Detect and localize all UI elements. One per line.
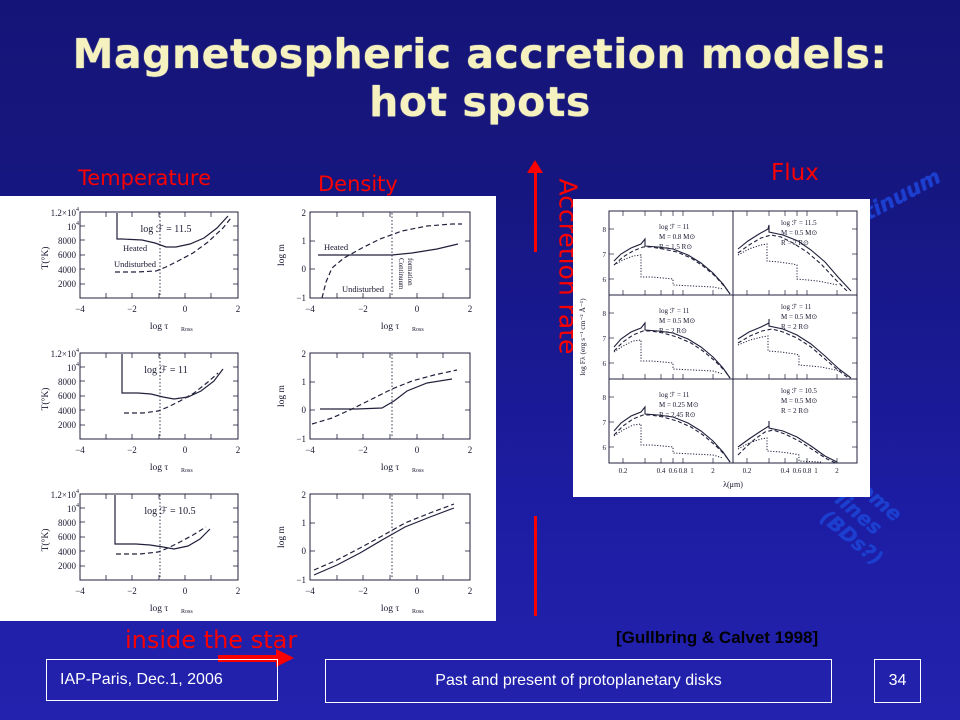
chart-temperature-11: 1.2×10 10 8000 6000 4000 2000 −4 −2 0 2 … bbox=[18, 339, 250, 476]
page-number: 34 bbox=[889, 672, 907, 690]
sed-panel-0-radius: R = 1.5 R⊙ bbox=[659, 243, 692, 251]
svg-text:Ross: Ross bbox=[181, 468, 193, 474]
svg-text:log m: log m bbox=[277, 525, 287, 548]
svg-text:2000: 2000 bbox=[58, 420, 77, 430]
sed-xaxis-label: λ(μm) bbox=[723, 480, 743, 489]
page-title: Magnetospheric accretion models: hot spo… bbox=[0, 30, 960, 126]
chart-annotation-logF: log ℱ = 11 bbox=[144, 365, 187, 376]
title-line-2: hot spots bbox=[0, 78, 960, 126]
svg-text:2: 2 bbox=[835, 467, 839, 475]
svg-text:0.6: 0.6 bbox=[793, 467, 802, 475]
footer-center-box: Past and present of protoplanetary disks bbox=[325, 659, 832, 703]
svg-text:4: 4 bbox=[76, 503, 79, 509]
svg-text:Ross: Ross bbox=[412, 327, 424, 333]
sed-panel-3-mass: M = 0.5 M⊙ bbox=[781, 313, 817, 321]
svg-text:2: 2 bbox=[236, 586, 241, 596]
svg-text:0: 0 bbox=[302, 405, 307, 415]
footer-presentation-title: Past and present of protoplanetary disks bbox=[435, 672, 721, 690]
svg-text:−2: −2 bbox=[127, 445, 137, 455]
svg-text:7: 7 bbox=[603, 335, 607, 343]
curve-label-undisturbed: Undisturbed bbox=[342, 284, 385, 294]
svg-text:log τ: log τ bbox=[150, 463, 169, 473]
svg-text:4: 4 bbox=[76, 489, 79, 495]
sed-panel-2-radius: R = 2 R⊙ bbox=[659, 327, 687, 335]
svg-text:1.2×10: 1.2×10 bbox=[51, 349, 77, 359]
chart-density-10.5: 2 1 0 −1 −4 −2 0 2 log m log τ Ross bbox=[262, 480, 486, 617]
chart-temperature-11.5: 1.2×10 10 8000 6000 4000 2000 −4 −2 0 2 … bbox=[18, 198, 250, 335]
footer-left-box: IAP-Paris, Dec.1, 2006 bbox=[46, 659, 278, 701]
figure-temperature-density: 1.2×10 10 8000 6000 4000 2000 −4 −2 0 2 … bbox=[0, 196, 496, 621]
svg-text:−4: −4 bbox=[75, 586, 85, 596]
chart-density-11: 2 1 0 −1 −4 −2 0 2 log m log τ Ross bbox=[262, 339, 486, 476]
svg-text:2: 2 bbox=[302, 349, 307, 359]
svg-text:formation: formation bbox=[406, 258, 414, 286]
svg-text:−4: −4 bbox=[75, 445, 85, 455]
footer-event-text: IAP-Paris, Dec.1, 2006 bbox=[60, 671, 223, 689]
svg-text:6: 6 bbox=[603, 360, 607, 368]
svg-text:6000: 6000 bbox=[58, 250, 77, 260]
svg-text:0: 0 bbox=[415, 304, 420, 314]
svg-text:−4: −4 bbox=[305, 586, 315, 596]
svg-text:2000: 2000 bbox=[58, 279, 77, 289]
sed-panel-5-radius: R = 2 R⊙ bbox=[781, 407, 809, 415]
sed-panel-0-mass: M = 0.8 M⊙ bbox=[659, 233, 695, 241]
svg-text:0: 0 bbox=[415, 445, 420, 455]
svg-text:0.2: 0.2 bbox=[743, 467, 752, 475]
svg-text:8: 8 bbox=[603, 226, 607, 234]
svg-text:2: 2 bbox=[468, 304, 473, 314]
sed-panel-2-logF: log ℱ = 11 bbox=[659, 307, 690, 315]
label-inside-the-star: inside the star bbox=[125, 626, 297, 654]
figure-flux-sed: 876 876 876 0.20.40.6 0.812 0.20.40.6 0.… bbox=[573, 199, 870, 497]
sed-yaxis-label: log Fλ (erg s⁻¹ cm⁻² Å⁻¹) bbox=[578, 298, 587, 376]
svg-text:2: 2 bbox=[302, 490, 307, 500]
svg-text:6000: 6000 bbox=[58, 391, 77, 401]
svg-text:1: 1 bbox=[690, 467, 694, 475]
chart-annotation-logF: log ℱ = 10.5 bbox=[144, 506, 195, 517]
svg-text:log τ: log τ bbox=[381, 322, 400, 332]
slide-canvas: Magnetospheric accretion models: hot spo… bbox=[0, 0, 960, 720]
accretion-rate-arrow: Accretion rate bbox=[515, 160, 555, 620]
svg-text:0: 0 bbox=[183, 304, 188, 314]
svg-text:4: 4 bbox=[76, 207, 79, 213]
chart-annotation-logF: log ℱ = 11.5 bbox=[141, 224, 192, 235]
svg-text:T(°K): T(°K) bbox=[40, 529, 51, 552]
svg-text:1: 1 bbox=[302, 236, 307, 246]
svg-text:0: 0 bbox=[302, 546, 307, 556]
svg-text:8000: 8000 bbox=[58, 518, 77, 528]
svg-text:0.4: 0.4 bbox=[781, 467, 790, 475]
svg-text:Ross: Ross bbox=[412, 609, 424, 615]
svg-text:8000: 8000 bbox=[58, 377, 77, 387]
svg-text:−1: −1 bbox=[296, 434, 306, 444]
svg-text:−2: −2 bbox=[127, 304, 137, 314]
svg-text:6: 6 bbox=[603, 444, 607, 452]
svg-text:0.2: 0.2 bbox=[619, 467, 628, 475]
svg-text:0: 0 bbox=[183, 445, 188, 455]
svg-text:4000: 4000 bbox=[58, 406, 77, 416]
svg-text:0.6: 0.6 bbox=[669, 467, 678, 475]
svg-text:6000: 6000 bbox=[58, 532, 77, 542]
sed-panel-1-radius: R = 2 R⊙ bbox=[781, 239, 809, 247]
svg-text:4: 4 bbox=[76, 362, 79, 368]
svg-text:2: 2 bbox=[236, 445, 241, 455]
svg-text:Ross: Ross bbox=[181, 609, 193, 615]
sed-panel-1-logF: log ℱ = 11.5 bbox=[781, 219, 817, 227]
svg-text:−4: −4 bbox=[305, 445, 315, 455]
svg-text:log m: log m bbox=[277, 384, 287, 407]
svg-text:−2: −2 bbox=[358, 586, 368, 596]
svg-text:2000: 2000 bbox=[58, 561, 77, 571]
curve-label-heated: Heated bbox=[123, 243, 148, 253]
curve-label-undisturbed: Undisturbed bbox=[114, 259, 157, 269]
svg-text:4000: 4000 bbox=[58, 547, 77, 557]
svg-text:log τ: log τ bbox=[381, 463, 400, 473]
sed-panel-5-logF: log ℱ = 10.5 bbox=[781, 387, 817, 395]
svg-text:2: 2 bbox=[236, 304, 241, 314]
svg-text:−4: −4 bbox=[75, 304, 85, 314]
svg-text:1.2×10: 1.2×10 bbox=[51, 490, 77, 500]
svg-text:−2: −2 bbox=[358, 304, 368, 314]
svg-text:2: 2 bbox=[468, 445, 473, 455]
svg-text:Ross: Ross bbox=[181, 327, 193, 333]
sed-panel-1-mass: M = 0.5 M⊙ bbox=[781, 229, 817, 237]
svg-text:log τ: log τ bbox=[150, 604, 169, 614]
curve-label-continuum-formation: Continuum bbox=[397, 258, 405, 290]
svg-text:8: 8 bbox=[603, 394, 607, 402]
svg-text:log τ: log τ bbox=[381, 604, 400, 614]
svg-text:−2: −2 bbox=[127, 586, 137, 596]
svg-text:4: 4 bbox=[76, 348, 79, 354]
svg-text:T(°K): T(°K) bbox=[40, 247, 51, 270]
arrow-right-icon bbox=[276, 649, 294, 667]
svg-text:log τ: log τ bbox=[150, 322, 169, 332]
svg-text:1.2×10: 1.2×10 bbox=[51, 208, 77, 218]
sed-panel-0-logF: log ℱ = 11 bbox=[659, 223, 690, 231]
label-density: Density bbox=[318, 172, 398, 196]
svg-text:2: 2 bbox=[711, 467, 715, 475]
arrow-shaft bbox=[534, 172, 537, 252]
label-temperature: Temperature bbox=[78, 166, 211, 190]
svg-text:0: 0 bbox=[302, 264, 307, 274]
svg-text:7: 7 bbox=[603, 251, 607, 259]
sed-panel-3-radius: R = 2 R⊙ bbox=[781, 323, 809, 331]
title-line-1: Magnetospheric accretion models: bbox=[73, 30, 888, 78]
svg-text:−1: −1 bbox=[296, 293, 306, 303]
svg-text:0: 0 bbox=[415, 586, 420, 596]
footer-page-number-box: 34 bbox=[874, 659, 921, 703]
curve-label-heated: Heated bbox=[324, 242, 349, 252]
sed-panel-4-mass: M = 0.25 M⊙ bbox=[659, 401, 699, 409]
svg-text:1: 1 bbox=[814, 467, 818, 475]
svg-text:2: 2 bbox=[302, 208, 307, 218]
label-flux: Flux bbox=[771, 160, 819, 186]
sed-panel-4-logF: log ℱ = 11 bbox=[659, 391, 690, 399]
figure-row-logF-11: 1.2×10 10 8000 6000 4000 2000 −4 −2 0 2 … bbox=[0, 337, 496, 478]
sed-panel-2-mass: M = 0.5 M⊙ bbox=[659, 317, 695, 325]
svg-text:Ross: Ross bbox=[412, 468, 424, 474]
sed-panel-4-radius: R = 2.45 R⊙ bbox=[659, 411, 696, 419]
svg-text:7: 7 bbox=[603, 419, 607, 427]
svg-text:−1: −1 bbox=[296, 575, 306, 585]
svg-text:T(°K): T(°K) bbox=[40, 388, 51, 411]
svg-text:0.4: 0.4 bbox=[657, 467, 666, 475]
chart-density-11.5: 2 1 0 −1 −4 −2 0 2 log m log τ Ross Heat… bbox=[262, 198, 486, 335]
svg-text:2: 2 bbox=[468, 586, 473, 596]
arrow-tail-line bbox=[534, 516, 537, 616]
svg-text:−2: −2 bbox=[358, 445, 368, 455]
sed-panel-5-mass: M = 0.5 M⊙ bbox=[781, 397, 817, 405]
svg-text:8000: 8000 bbox=[58, 236, 77, 246]
figure-credit: [Gullbring & Calvet 1998] bbox=[616, 628, 818, 648]
svg-text:log m: log m bbox=[277, 243, 287, 266]
svg-text:4000: 4000 bbox=[58, 265, 77, 275]
figure-row-logF-11.5: 1.2×10 10 8000 6000 4000 2000 −4 −2 0 2 … bbox=[0, 196, 496, 337]
svg-text:0.8: 0.8 bbox=[679, 467, 688, 475]
chart-temperature-10.5: 1.2×10 10 8000 6000 4000 2000 −4 −2 0 2 … bbox=[18, 480, 250, 617]
figure-row-logF-10.5: 1.2×10 10 8000 6000 4000 2000 −4 −2 0 2 … bbox=[0, 478, 496, 619]
svg-text:8: 8 bbox=[603, 310, 607, 318]
svg-text:1: 1 bbox=[302, 518, 307, 528]
svg-text:4: 4 bbox=[76, 221, 79, 227]
svg-text:0: 0 bbox=[183, 586, 188, 596]
svg-text:−4: −4 bbox=[305, 304, 315, 314]
sed-panel-3-logF: log ℱ = 11 bbox=[781, 303, 812, 311]
svg-text:0.8: 0.8 bbox=[803, 467, 812, 475]
svg-text:6: 6 bbox=[603, 276, 607, 284]
svg-text:1: 1 bbox=[302, 377, 307, 387]
